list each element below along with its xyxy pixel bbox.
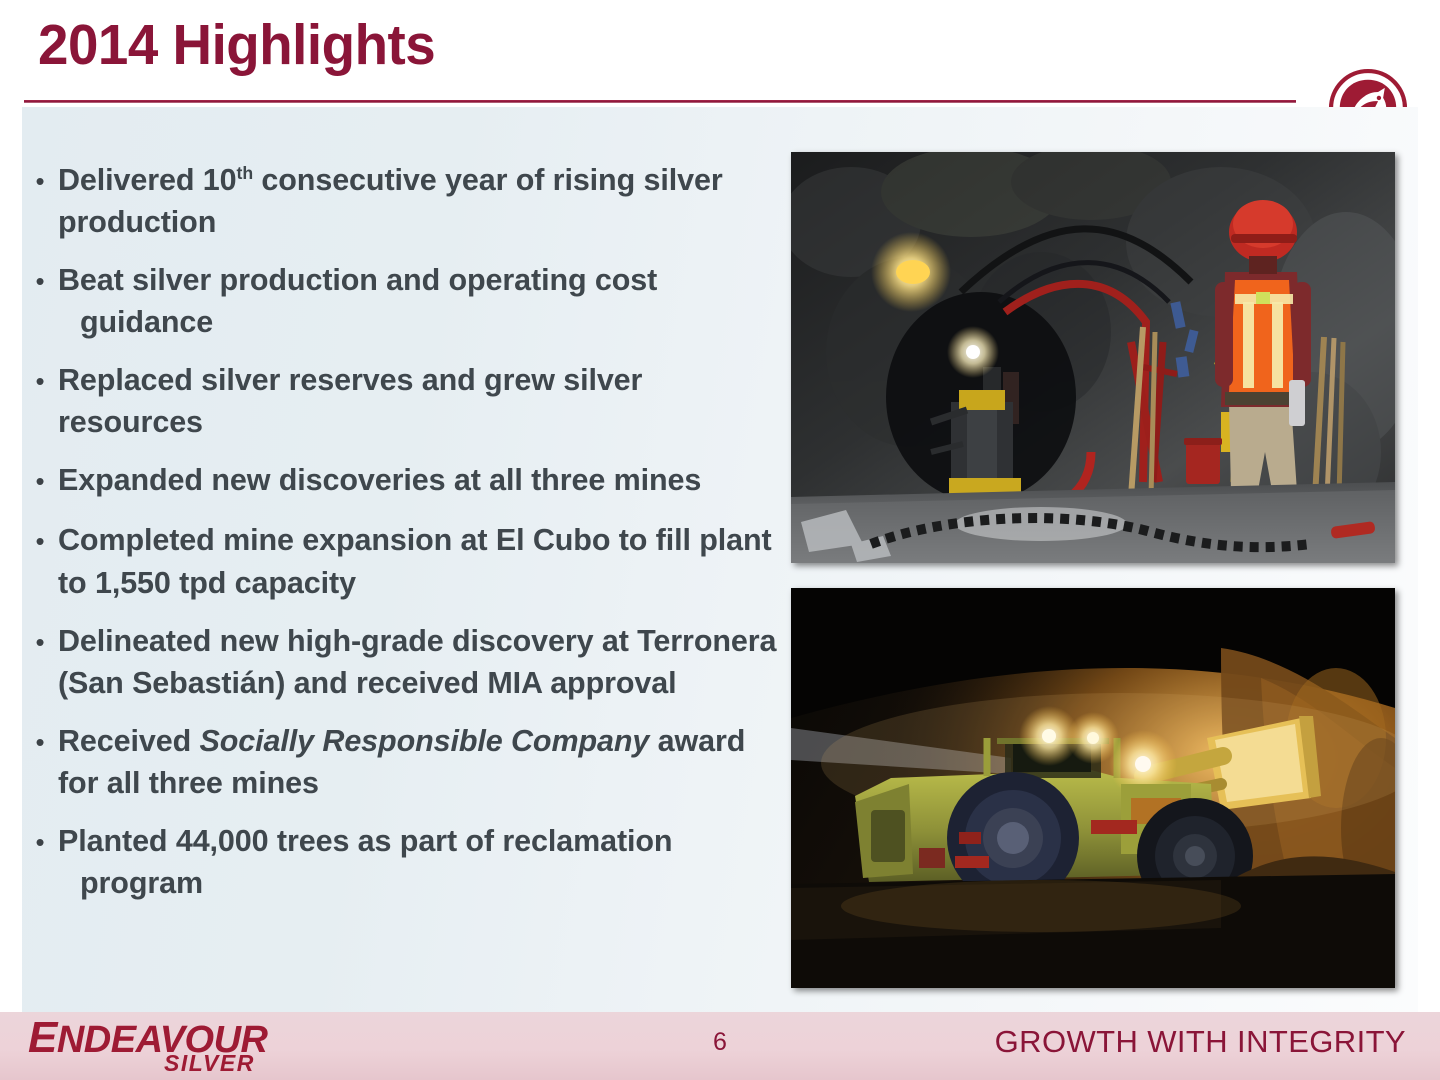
content-panel: • Delivered 10th consecutive year of ris… <box>22 107 1418 1012</box>
bullet-segment-superscript: th <box>237 163 254 183</box>
list-item: • Planted 44,000 trees as part of reclam… <box>22 820 792 904</box>
list-item: • Beat silver production and operating c… <box>22 259 792 343</box>
page-title: 2014 Highlights <box>38 16 435 76</box>
bullet-point-icon: • <box>22 159 58 203</box>
list-item-text: Replaced silver reserves and grew silver… <box>58 359 792 443</box>
bullet-point-icon: • <box>22 620 58 664</box>
brand-name-secondary: SILVER <box>164 1052 255 1075</box>
list-item: • Expanded new discoveries at all three … <box>22 459 792 503</box>
underground-lhd-loader-photo <box>791 588 1395 988</box>
list-item: • Delineated new high-grade discovery at… <box>22 620 792 704</box>
list-item: • Delivered 10th consecutive year of ris… <box>22 159 792 243</box>
list-item-text: Expanded new discoveries at all three mi… <box>58 459 792 501</box>
list-item: • Completed mine expansion at El Cubo to… <box>22 519 792 603</box>
highlights-bullet-list: • Delivered 10th consecutive year of ris… <box>22 159 792 920</box>
list-item-text: Delineated new high-grade discovery at T… <box>58 620 792 704</box>
bullet-point-icon: • <box>22 259 58 303</box>
list-item-text: Planted 44,000 trees as part of reclamat… <box>58 820 792 904</box>
bullet-segment: Received <box>58 724 200 758</box>
bullet-point-icon: • <box>22 459 58 503</box>
bullet-segment-italic: Socially Responsible Company <box>200 724 650 758</box>
bullet-segment: Delivered 10 <box>58 163 237 197</box>
bullet-point-icon: • <box>22 519 58 563</box>
brand-tagline: GROWTH WITH INTEGRITY <box>995 1026 1406 1057</box>
list-item-text: Received Socially Responsible Company aw… <box>58 720 792 804</box>
underground-mine-drilling-photo <box>791 152 1395 563</box>
endeavour-silver-logo: ENDEAVOUR SILVER <box>28 1016 288 1076</box>
bullet-point-icon: • <box>22 359 58 403</box>
list-item-text: Beat silver production and operating cos… <box>58 259 792 343</box>
bullet-point-icon: • <box>22 720 58 764</box>
brand-name-cap: E <box>28 1013 57 1062</box>
list-item: • Received Socially Responsible Company … <box>22 720 792 804</box>
presentation-slide: 2014 Highlights • Delivered 10th consecu… <box>0 0 1440 1080</box>
bullet-point-icon: • <box>22 820 58 864</box>
list-item-text: Completed mine expansion at El Cubo to f… <box>58 519 792 603</box>
list-item-text: Delivered 10th consecutive year of risin… <box>58 159 792 243</box>
title-divider <box>24 100 1296 103</box>
page-number: 6 <box>700 1030 740 1055</box>
list-item: • Replaced silver reserves and grew silv… <box>22 359 792 443</box>
